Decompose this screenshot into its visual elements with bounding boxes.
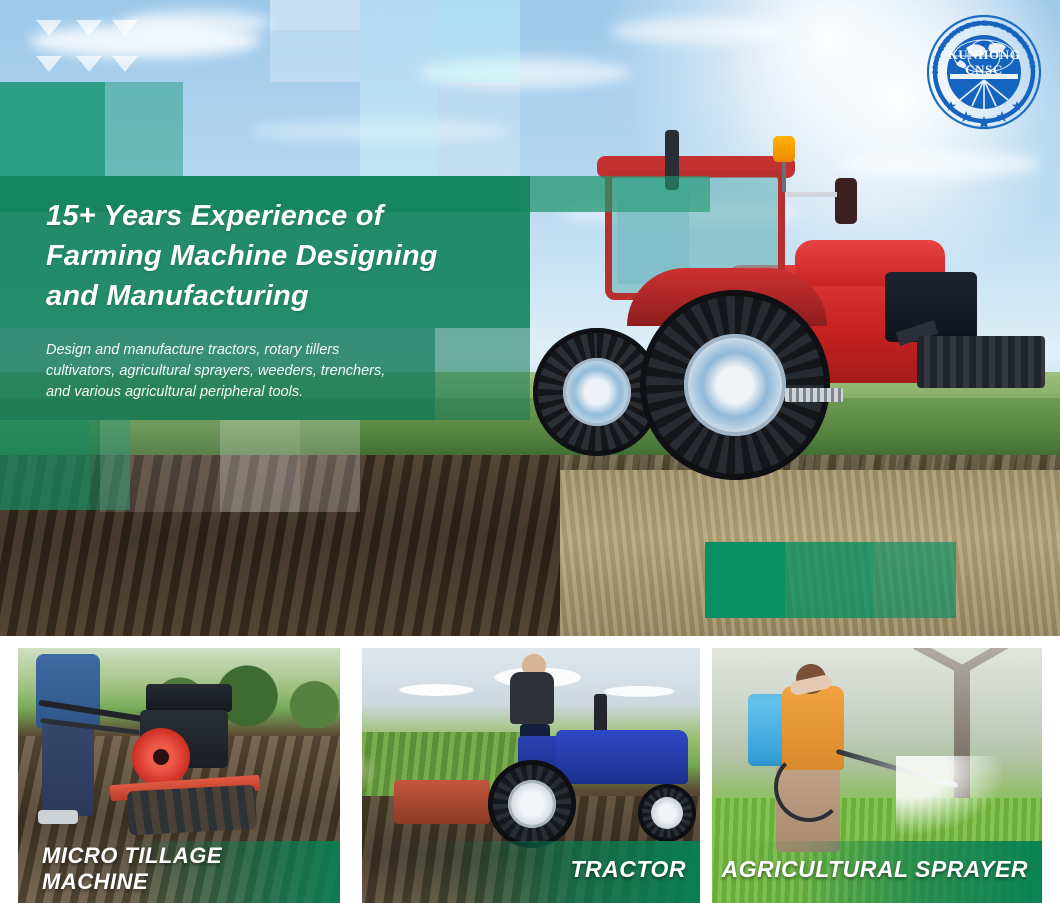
tractor-mirror	[835, 178, 857, 224]
cloud-icon	[610, 18, 790, 44]
tractor-rear-wheel	[640, 290, 830, 480]
hero-headline-line-3: and Manufacturing	[46, 276, 516, 316]
triangle-down-icon	[76, 20, 102, 36]
product-card-micro-tillage-machine[interactable]: MICRO TILLAGE MACHINE	[18, 648, 340, 903]
driver-torso	[510, 672, 554, 724]
decor-mosaic-a	[100, 420, 220, 512]
decor-block-teal-solid	[0, 82, 105, 176]
decor-green-bar-fade-1	[520, 176, 610, 212]
tractor-front-wheel	[638, 784, 696, 842]
hero-banner: 15+ Years Experience of Farming Machine …	[0, 0, 1060, 636]
decor-block-sky-3	[360, 0, 438, 176]
decor-block-bottom-right-2	[785, 542, 873, 618]
rotary-tiller-implement	[394, 780, 490, 824]
hero-headline: 15+ Years Experience of Farming Machine …	[46, 196, 516, 316]
spray-mist	[896, 756, 1006, 836]
card-label-tractor: TRACTOR	[362, 841, 700, 903]
hero-subcopy-line-2: cultivators, agricultural sprayers, weed…	[46, 361, 446, 382]
hero-subcopy: Design and manufacture tractors, rotary …	[46, 340, 446, 403]
decor-mosaic-c	[300, 420, 360, 512]
decor-block-sky-2	[270, 0, 360, 82]
cloud-icon	[120, 10, 270, 36]
logo-center-line-1: KUNHONG	[948, 47, 1021, 62]
logo-center-line-2: CNSC	[965, 62, 1003, 77]
decor-mosaic-b	[220, 420, 300, 512]
blue-tractor	[470, 702, 700, 842]
product-card-row: MICRO TILLAGE MACHINE	[0, 648, 1060, 903]
hero-headline-line-2: Farming Machine Designing	[46, 236, 516, 276]
company-seal-logo[interactable]: KUNHONG CNSC CHINA KUNHONG SUPPLY CHAIN	[920, 8, 1048, 136]
triangle-down-icon	[112, 56, 138, 72]
hero-subcopy-line-1: Design and manufacture tractors, rotary …	[46, 340, 446, 361]
tractor-step	[785, 388, 843, 402]
product-card-tractor[interactable]: TRACTOR	[362, 648, 700, 903]
hero-copy: 15+ Years Experience of Farming Machine …	[46, 196, 516, 403]
sprayer-operator	[760, 670, 870, 852]
triangle-down-icon	[76, 56, 102, 72]
triangle-down-icon	[36, 20, 62, 36]
decor-block-bottom-right-3	[873, 542, 956, 618]
operator-figure	[30, 654, 108, 814]
decor-panel-lower	[0, 420, 90, 510]
tractor-front-implement	[917, 336, 1045, 388]
card-label-agricultural-sprayer: AGRICULTURAL SPRAYER	[712, 841, 1042, 903]
decor-block-sky-5	[438, 82, 520, 176]
micro-tiller-machine	[110, 684, 300, 824]
product-card-agricultural-sprayer[interactable]: AGRICULTURAL SPRAYER	[712, 648, 1042, 903]
hero-subcopy-line-3: and various agricultural peripheral tool…	[46, 382, 446, 403]
decor-green-bar-fade-2	[610, 176, 710, 212]
tractor-beacon-light	[773, 136, 795, 162]
decor-block-bottom-right-1	[705, 542, 785, 618]
triangle-down-icon	[36, 56, 62, 72]
hero-headline-line-1: 15+ Years Experience of	[46, 196, 516, 236]
banner-page: 15+ Years Experience of Farming Machine …	[0, 0, 1060, 903]
decor-block-teal-translucent	[105, 82, 183, 176]
card-label-micro-tillage-machine: MICRO TILLAGE MACHINE	[18, 841, 340, 903]
tractor-rear-wheel	[488, 760, 576, 848]
triangle-down-icon	[112, 20, 138, 36]
decor-block-sky-4	[438, 0, 520, 82]
